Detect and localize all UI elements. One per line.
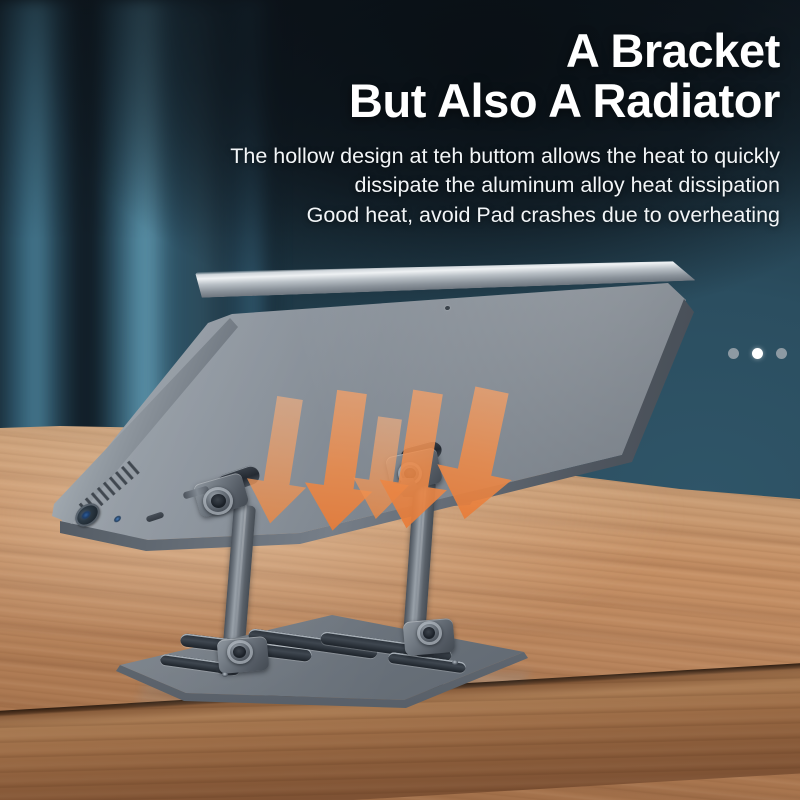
carousel-dot-3[interactable] bbox=[776, 348, 787, 359]
product-banner: A Bracket But Also A Radiator The hollow… bbox=[0, 0, 800, 800]
banner-copy: A Bracket But Also A Radiator The hollow… bbox=[40, 26, 780, 231]
description-line-2: dissipate the aluminum alloy heat dissip… bbox=[40, 171, 780, 201]
page-title: A Bracket But Also A Radiator bbox=[40, 26, 780, 126]
headline-line-2: But Also A Radiator bbox=[40, 76, 780, 126]
heat-arrow-1 bbox=[241, 393, 320, 528]
carousel-dot-2[interactable] bbox=[752, 348, 763, 359]
heat-arrow-5 bbox=[427, 382, 529, 527]
description-line-1: The hollow design at teh buttom allows t… bbox=[40, 142, 780, 172]
description-line-3: Good heat, avoid Pad crashes due to over… bbox=[40, 201, 780, 231]
carousel-dots[interactable] bbox=[728, 348, 787, 359]
headline-line-1: A Bracket bbox=[40, 26, 780, 76]
carousel-dot-1[interactable] bbox=[728, 348, 739, 359]
banner-description: The hollow design at teh buttom allows t… bbox=[40, 142, 780, 231]
